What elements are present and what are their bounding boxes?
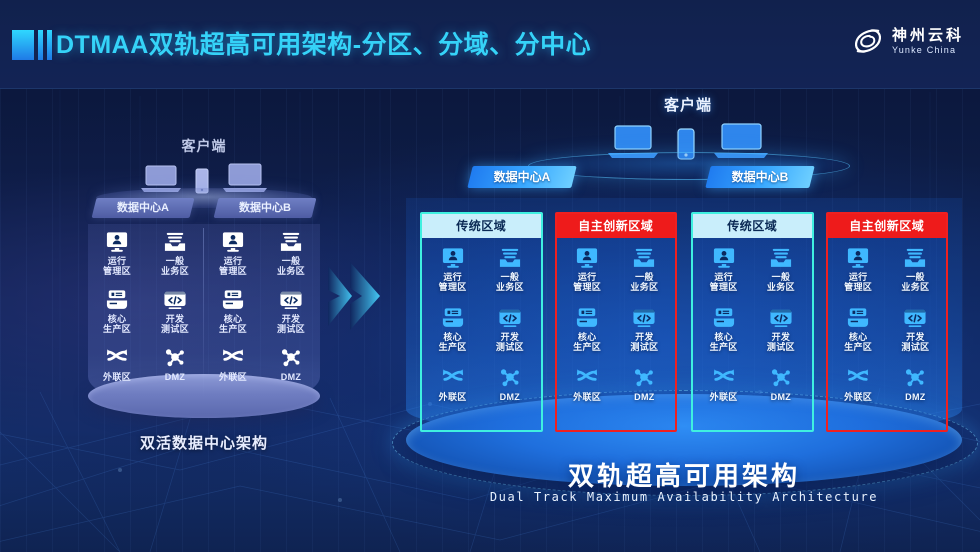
- cross-arrows-icon: [574, 366, 600, 390]
- zone-label: 一般业务区: [277, 256, 305, 276]
- zone-label: DMZ: [165, 372, 185, 382]
- zone-cell: 一般业务区: [481, 246, 538, 304]
- cross-arrows-icon: [220, 346, 246, 370]
- zone-label: 一般业务区: [496, 272, 524, 292]
- zone-cell: DMZ: [146, 346, 204, 404]
- zone-cell: 核心生产区: [204, 288, 262, 346]
- zone-label: 外联区: [439, 392, 467, 402]
- zone-label: 核心生产区: [573, 332, 601, 352]
- zone-cell: 开发测试区: [481, 306, 538, 364]
- left-datacenter-badge-b: 数据中心B: [214, 198, 317, 218]
- dc-a-traditional-zones: 运行管理区一般业务区核心生产区开发测试区外联区DMZ: [422, 238, 541, 430]
- monitor-user-icon: [574, 246, 600, 270]
- inbox-tray-icon: [631, 246, 657, 270]
- zone-cell: 运行管理区: [830, 246, 887, 304]
- zone-cell: DMZ: [752, 366, 809, 424]
- inbox-tray-icon: [497, 246, 523, 270]
- zone-label: 外联区: [844, 392, 872, 402]
- zone-cell: 开发测试区: [262, 288, 320, 346]
- inbox-tray-icon: [768, 246, 794, 270]
- zone-cell: 开发测试区: [887, 306, 944, 364]
- zone-label: 核心生产区: [844, 332, 872, 352]
- molecule-node-icon: [497, 366, 523, 390]
- dc-a-traditional-header: 传统区域: [422, 214, 541, 238]
- zone-cell: 外联区: [204, 346, 262, 404]
- left-datacenter-badge-a: 数据中心A: [92, 198, 195, 218]
- left-platform: 运行管理区一般业务区核心生产区开发测试区外联区DMZ 运行管理区一般业务区核心生…: [88, 224, 320, 430]
- zone-cell: 一般业务区: [146, 230, 204, 288]
- molecule-node-icon: [902, 366, 928, 390]
- cross-arrows-icon: [104, 346, 130, 370]
- zone-label: 开发测试区: [496, 332, 524, 352]
- zone-label: 运行管理区: [573, 272, 601, 292]
- server-stack-icon: [220, 288, 246, 312]
- dc-b-traditional-zones: 运行管理区一般业务区核心生产区开发测试区外联区DMZ: [693, 238, 812, 430]
- zone-label: 核心生产区: [103, 314, 131, 334]
- zone-cell: 外联区: [424, 366, 481, 424]
- right-client-label: 客户端: [558, 94, 818, 115]
- zone-label: 一般业务区: [901, 272, 929, 292]
- double-chevron-right-icon: [326, 258, 388, 334]
- dc-b-innovation-header: 自主创新区域: [828, 214, 947, 238]
- zone-label: 开发测试区: [767, 332, 795, 352]
- zone-cell: 外联区: [88, 346, 146, 404]
- zone-cell: 一般业务区: [616, 246, 673, 304]
- zone-cell: 核心生产区: [559, 306, 616, 364]
- zone-label: 外联区: [219, 372, 247, 382]
- zone-cell: 运行管理区: [88, 230, 146, 288]
- dc-b-traditional-header: 传统区域: [693, 214, 812, 238]
- header-bar: DTMAA双轨超高可用架构-分区、分域、分中心 神州云科 Yunke China: [0, 0, 980, 89]
- inbox-tray-icon: [162, 230, 188, 254]
- left-datacenter-badge-a-label: 数据中心A: [94, 198, 192, 218]
- brand-logo: 神州云科 Yunke China: [851, 24, 964, 58]
- datacenter-badge-b-label: 数据中心B: [708, 166, 812, 188]
- right-datacenter-badges: 数据中心A 数据中心B: [398, 166, 970, 192]
- code-window-icon: [162, 288, 188, 312]
- monitor-user-icon: [845, 246, 871, 270]
- right-caption-en: Dual Track Maximum Availability Architec…: [398, 490, 970, 504]
- zone-cell: 核心生产区: [830, 306, 887, 364]
- zone-cell: DMZ: [481, 366, 538, 424]
- left-datacenter-badges: 数据中心A 数据中心B: [88, 198, 320, 222]
- page-title: DTMAA双轨超高可用架构-分区、分域、分中心: [56, 28, 591, 62]
- monitor-user-icon: [104, 230, 130, 254]
- left-zone-column-b: 运行管理区一般业务区核心生产区开发测试区外联区DMZ: [204, 230, 320, 406]
- right-caption-cn: 双轨超高可用架构: [398, 456, 970, 493]
- zone-label: 外联区: [573, 392, 601, 402]
- molecule-node-icon: [631, 366, 657, 390]
- left-zone-column-a: 运行管理区一般业务区核心生产区开发测试区外联区DMZ: [88, 230, 204, 406]
- bars-accent-icon: [12, 30, 52, 60]
- zone-label: 运行管理区: [439, 272, 467, 292]
- dc-a-traditional-area: 传统区域 运行管理区一般业务区核心生产区开发测试区外联区DMZ: [420, 212, 543, 432]
- zone-cell: 一般业务区: [887, 246, 944, 304]
- code-window-icon: [631, 306, 657, 330]
- server-stack-icon: [440, 306, 466, 330]
- monitor-user-icon: [440, 246, 466, 270]
- inbox-tray-icon: [902, 246, 928, 270]
- code-window-icon: [902, 306, 928, 330]
- zone-label: 外联区: [710, 392, 738, 402]
- zone-label: DMZ: [905, 392, 925, 402]
- code-window-icon: [497, 306, 523, 330]
- inbox-tray-icon: [278, 230, 304, 254]
- datacenter-badge-a: 数据中心A: [467, 166, 576, 188]
- dc-a-innovation-header: 自主创新区域: [557, 214, 676, 238]
- left-zone-grid: 运行管理区一般业务区核心生产区开发测试区外联区DMZ 运行管理区一般业务区核心生…: [88, 230, 320, 406]
- left-caption: 双活数据中心架构: [88, 432, 320, 453]
- slide-canvas: DTMAA双轨超高可用架构-分区、分域、分中心 神州云科 Yunke China…: [0, 0, 980, 552]
- zone-label: DMZ: [500, 392, 520, 402]
- code-window-icon: [768, 306, 794, 330]
- zone-cell: DMZ: [887, 366, 944, 424]
- zone-label: 运行管理区: [844, 272, 872, 292]
- datacenter-badge-a-label: 数据中心A: [470, 166, 574, 188]
- zone-label: 一般业务区: [767, 272, 795, 292]
- zone-cell: DMZ: [262, 346, 320, 404]
- server-stack-icon: [711, 306, 737, 330]
- zone-label: 一般业务区: [161, 256, 189, 276]
- datacenter-b-areas: 传统区域 运行管理区一般业务区核心生产区开发测试区外联区DMZ 自主创新区域 运…: [691, 212, 948, 432]
- left-datacenter-badge-b-label: 数据中心B: [216, 198, 314, 218]
- datacenter-a-areas: 传统区域 运行管理区一般业务区核心生产区开发测试区外联区DMZ 自主创新区域 运…: [420, 212, 677, 432]
- zone-label: 开发测试区: [630, 332, 658, 352]
- zone-label: 开发测试区: [277, 314, 305, 334]
- zone-cell: 外联区: [695, 366, 752, 424]
- zone-label: 核心生产区: [439, 332, 467, 352]
- dc-b-innovation-area: 自主创新区域 运行管理区一般业务区核心生产区开发测试区外联区DMZ: [826, 212, 949, 432]
- molecule-node-icon: [278, 346, 304, 370]
- zone-label: 一般业务区: [630, 272, 658, 292]
- monitor-user-icon: [220, 230, 246, 254]
- zone-label: 核心生产区: [710, 332, 738, 352]
- zone-cell: 外联区: [830, 366, 887, 424]
- zone-cell: 开发测试区: [616, 306, 673, 364]
- zone-label: 开发测试区: [161, 314, 189, 334]
- dc-a-innovation-area: 自主创新区域 运行管理区一般业务区核心生产区开发测试区外联区DMZ: [555, 212, 678, 432]
- zone-label: 运行管理区: [219, 256, 247, 276]
- zone-label: DMZ: [634, 392, 654, 402]
- legacy-architecture-diagram: 客户端 数据中心A 数据中心B: [88, 126, 320, 456]
- molecule-node-icon: [768, 366, 794, 390]
- cross-arrows-icon: [440, 366, 466, 390]
- monitor-user-icon: [711, 246, 737, 270]
- zone-label: 外联区: [103, 372, 131, 382]
- zone-cell: 一般业务区: [262, 230, 320, 288]
- logo-name-cn: 神州云科: [892, 27, 964, 44]
- server-stack-icon: [104, 288, 130, 312]
- zone-label: 核心生产区: [219, 314, 247, 334]
- swirl-logo-icon: [851, 24, 885, 58]
- zone-cell: 核心生产区: [695, 306, 752, 364]
- zone-label: DMZ: [771, 392, 791, 402]
- dtmaa-architecture-diagram: 客户端 数据中心A 数据中心B: [398, 88, 970, 552]
- zone-label: 开发测试区: [901, 332, 929, 352]
- molecule-node-icon: [162, 346, 188, 370]
- zone-cell: 运行管理区: [695, 246, 752, 304]
- zone-groups: 传统区域 运行管理区一般业务区核心生产区开发测试区外联区DMZ 自主创新区域 运…: [420, 212, 948, 432]
- cross-arrows-icon: [711, 366, 737, 390]
- zone-cell: 运行管理区: [204, 230, 262, 288]
- zone-label: 运行管理区: [710, 272, 738, 292]
- code-window-icon: [278, 288, 304, 312]
- dc-b-innovation-zones: 运行管理区一般业务区核心生产区开发测试区外联区DMZ: [828, 238, 947, 430]
- zone-cell: 一般业务区: [752, 246, 809, 304]
- zone-cell: 运行管理区: [424, 246, 481, 304]
- dc-b-traditional-area: 传统区域 运行管理区一般业务区核心生产区开发测试区外联区DMZ: [691, 212, 814, 432]
- server-stack-icon: [845, 306, 871, 330]
- zone-cell: DMZ: [616, 366, 673, 424]
- zone-label: 运行管理区: [103, 256, 131, 276]
- zone-cell: 外联区: [559, 366, 616, 424]
- left-client-label: 客户端: [88, 136, 320, 156]
- zone-label: DMZ: [281, 372, 301, 382]
- logo-name-en: Yunke China: [892, 44, 964, 56]
- zone-cell: 开发测试区: [752, 306, 809, 364]
- zone-cell: 核心生产区: [424, 306, 481, 364]
- zone-cell: 运行管理区: [559, 246, 616, 304]
- dc-a-innovation-zones: 运行管理区一般业务区核心生产区开发测试区外联区DMZ: [557, 238, 676, 430]
- zone-cell: 核心生产区: [88, 288, 146, 346]
- cross-arrows-icon: [845, 366, 871, 390]
- server-stack-icon: [574, 306, 600, 330]
- datacenter-badge-b: 数据中心B: [705, 166, 814, 188]
- zone-cell: 开发测试区: [146, 288, 204, 346]
